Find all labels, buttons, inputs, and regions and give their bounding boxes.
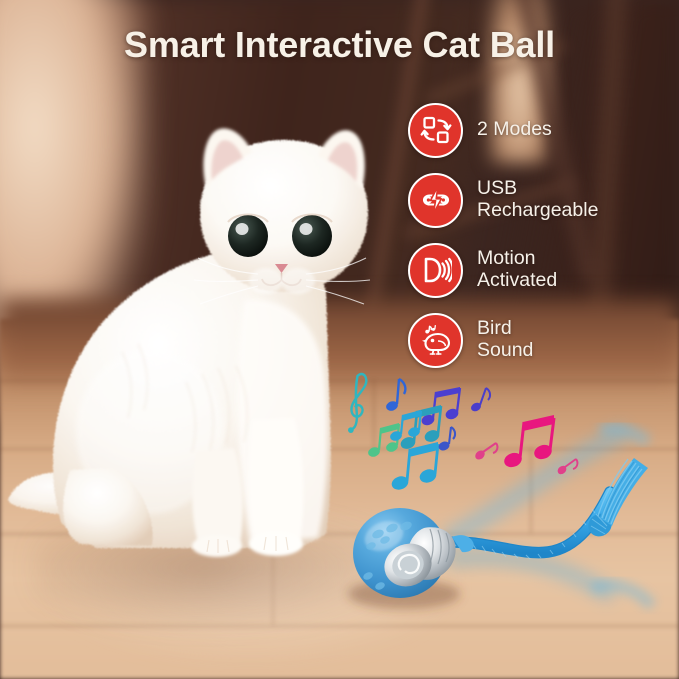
page-title: Smart Interactive Cat Ball: [0, 24, 679, 66]
product-hero-image: Smart Interactive Cat Ball 2 Modes: [0, 0, 679, 679]
feature-line2: Rechargeable: [477, 200, 598, 222]
feature-line2: Sound: [477, 340, 533, 362]
music-note-beamed-magenta: [502, 415, 554, 469]
two-modes-icon: [408, 103, 463, 158]
feature-line1: Bird: [477, 318, 533, 340]
feature-item-two-modes: 2 Modes: [408, 100, 670, 160]
feature-line2: Activated: [477, 270, 557, 292]
music-note-small-pink: [473, 443, 497, 461]
feature-list: 2 Modes USB Rechargeable: [408, 100, 670, 380]
music-note-eighth: [437, 427, 455, 452]
usb-rechargeable-icon: [408, 173, 463, 228]
music-note-eighth: [385, 379, 406, 412]
feature-label-bird-sound: Bird Sound: [477, 318, 533, 362]
feature-line1: Motion: [477, 248, 557, 270]
feature-line1: USB: [477, 178, 598, 200]
music-note-small-pink: [556, 459, 577, 476]
feature-item-bird-sound: Bird Sound: [408, 310, 670, 370]
bird-sound-icon: [408, 313, 463, 368]
feature-label-two-modes: 2 Modes: [477, 119, 552, 141]
feature-item-motion-activated: Motion Activated: [408, 240, 670, 300]
music-note-beamed: [390, 442, 438, 492]
feature-label-motion-activated: Motion Activated: [477, 248, 557, 292]
music-note-clef: [348, 374, 366, 433]
feature-label-usb-rechargeable: USB Rechargeable: [477, 178, 598, 222]
music-note-small: [470, 388, 491, 413]
motion-activated-icon: [408, 243, 463, 298]
feature-line1: 2 Modes: [477, 118, 552, 140]
feature-item-usb-rechargeable: USB Rechargeable: [408, 170, 670, 230]
